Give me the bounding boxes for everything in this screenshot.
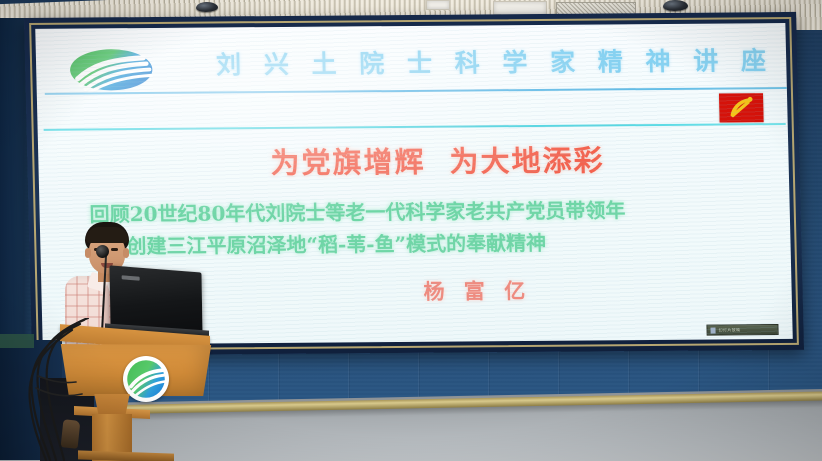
presenter-hair-front bbox=[86, 227, 128, 243]
ceiling-spotlight bbox=[663, 0, 688, 11]
ceiling-panel-small bbox=[426, 0, 450, 10]
institute-wave-globe-logo bbox=[66, 46, 157, 94]
slideshow-label: 幻灯片放映 bbox=[718, 327, 740, 333]
cpc-hammer-sickle-emblem bbox=[719, 93, 764, 122]
slide-speaker-name: 杨 富 亿 bbox=[423, 275, 531, 306]
slide-headline: 为党旗增辉为大地添彩 bbox=[270, 137, 605, 182]
ac-vent-panel bbox=[493, 1, 547, 15]
slideshow-icon bbox=[710, 327, 715, 333]
laptop-badge bbox=[122, 275, 140, 280]
headline-part2: 为大地添彩 bbox=[449, 143, 605, 178]
podium-logo bbox=[123, 356, 169, 402]
presenter-ear-left bbox=[85, 248, 91, 258]
presenter-eye-right bbox=[111, 248, 118, 251]
hanging-cables bbox=[14, 318, 104, 461]
slideshow-control-bar[interactable]: 幻灯片放映 bbox=[706, 324, 778, 336]
slide-body-line2: 轻人创建三江平原沼泽地“稻-苇-鱼”模式的奉献精神 bbox=[86, 227, 546, 260]
microphone-head bbox=[96, 245, 109, 258]
slide-divider-cyan bbox=[44, 123, 786, 131]
headline-part1: 为党旗增辉 bbox=[270, 145, 426, 180]
slide-body-line1: 回顾20世纪80年代刘院士等老一代科学家老共产党员带领年 bbox=[89, 194, 625, 227]
ceiling-spotlight bbox=[196, 2, 218, 12]
lecture-hall-photo: 刘 兴 土 院 士 科 学 家 精 神 讲 座 bbox=[0, 0, 822, 461]
slide-title: 刘 兴 土 院 士 科 学 家 精 神 讲 座 bbox=[216, 41, 774, 81]
presenter-ear-right bbox=[123, 248, 129, 258]
